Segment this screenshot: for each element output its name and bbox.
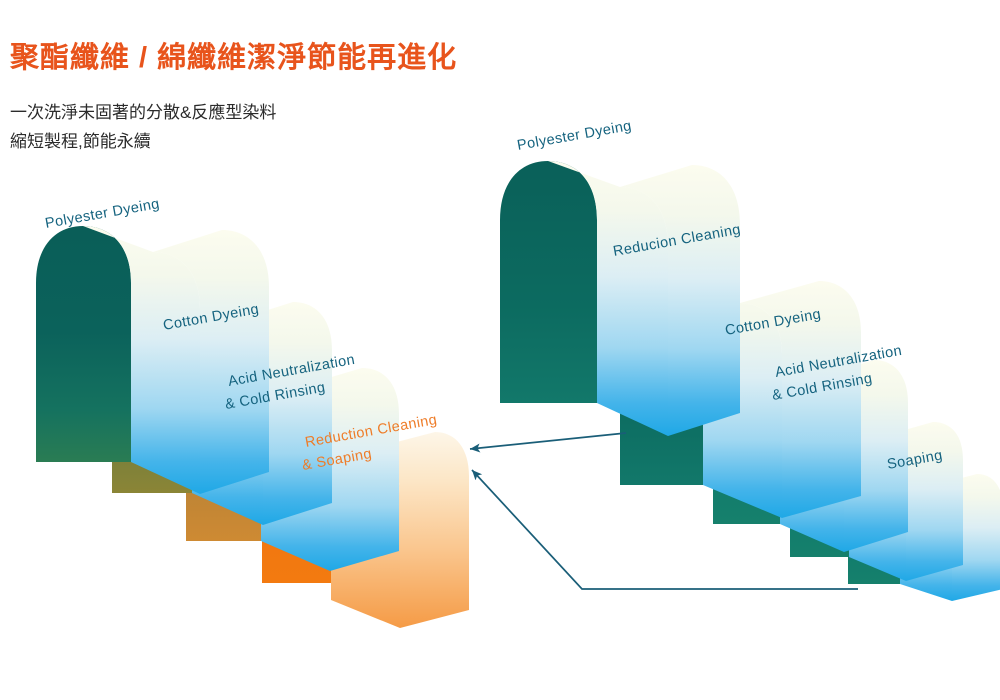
label-left-polyester-dyeing: Polyester Dyeing <box>44 196 161 232</box>
right-process-group: Polyester Dyeing Reducion Cleaning Cotto… <box>500 118 1000 601</box>
comparison-arrow-upper <box>470 433 626 449</box>
left-process-group: Polyester Dyeing Cotton Dyeing Acid Neut… <box>36 196 469 628</box>
subtitle-line-2: 縮短製程,節能永續 <box>10 133 151 150</box>
label-right-polyester-dyeing: Polyester Dyeing <box>516 118 633 154</box>
right-step-1-shape <box>500 161 740 436</box>
page-title: 聚酯纖維 / 綿纖維潔淨節能再進化 <box>10 44 457 73</box>
diagram-canvas: 聚酯纖維 / 綿纖維潔淨節能再進化 一次洗淨未固著的分散&反應型染料 縮短製程,… <box>0 0 1000 700</box>
left-step-1-shape <box>36 226 269 494</box>
subtitle-line-1: 一次洗淨未固著的分散&反應型染料 <box>10 104 276 121</box>
